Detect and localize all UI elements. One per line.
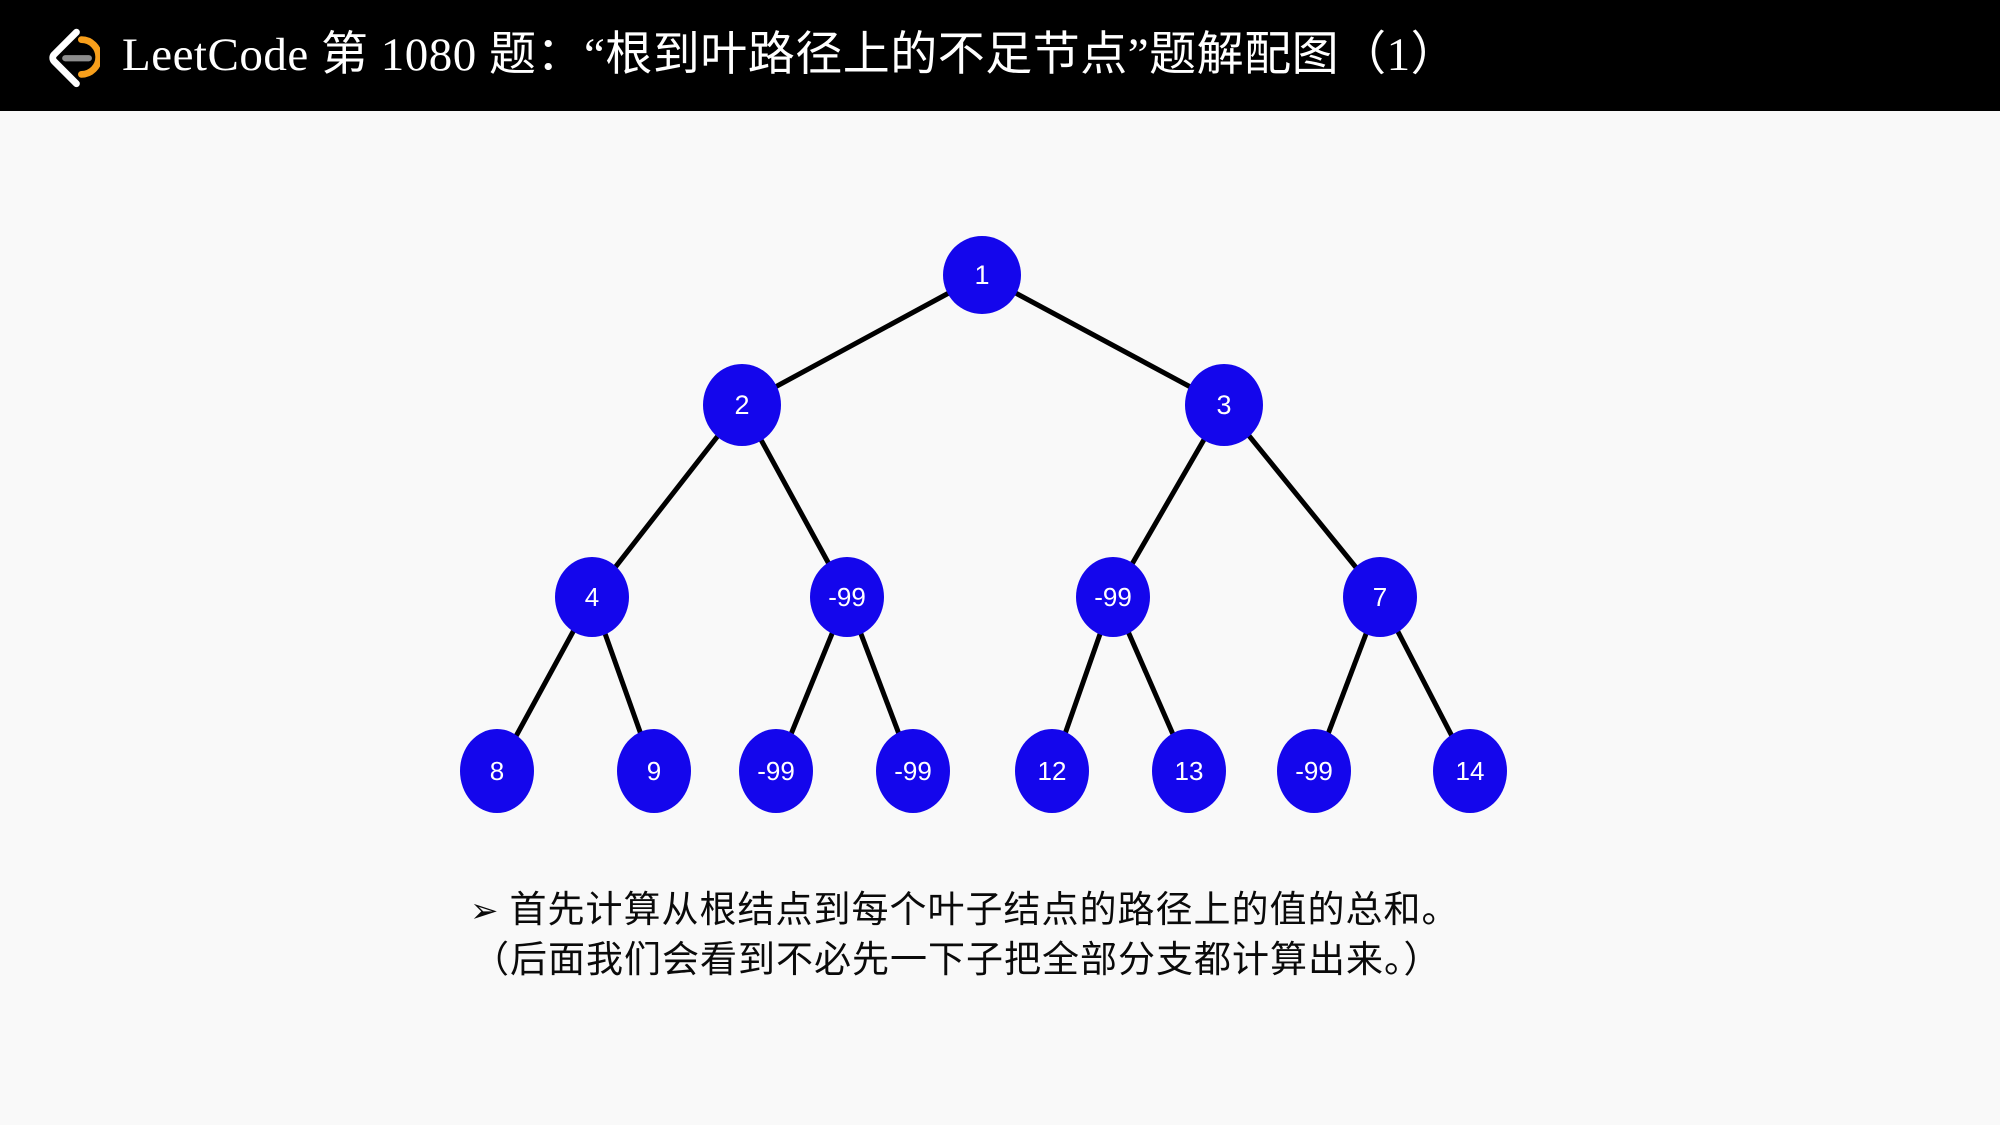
tree-node: -99 bbox=[1076, 557, 1150, 637]
leetcode-logo-icon bbox=[38, 26, 100, 88]
tree-node: 9 bbox=[617, 729, 691, 813]
tree-node: -99 bbox=[1277, 729, 1351, 813]
page-title: LeetCode 第 1080 题：“根到叶路径上的不足节点”题解配图（1） bbox=[122, 32, 1458, 79]
tree-node: 13 bbox=[1152, 729, 1226, 813]
tree-node: -99 bbox=[739, 729, 813, 813]
slide-header-bar: LeetCode 第 1080 题：“根到叶路径上的不足节点”题解配图（1） bbox=[0, 0, 2000, 111]
caption-block: ➢首先计算从根结点到每个叶子结点的路径上的值的总和。 （后面我们会看到不必先一下… bbox=[470, 886, 1570, 986]
tree-edge bbox=[982, 275, 1224, 405]
tree-node: 4 bbox=[555, 557, 629, 637]
tree-node: -99 bbox=[810, 557, 884, 637]
caption-line-1-text: 首先计算从根结点到每个叶子结点的路径上的值的总和。 bbox=[510, 890, 1460, 931]
tree-node: 7 bbox=[1343, 557, 1417, 637]
slide-canvas: LeetCode 第 1080 题：“根到叶路径上的不足节点”题解配图（1） 1… bbox=[0, 0, 2000, 1125]
tree-node: 14 bbox=[1433, 729, 1507, 813]
tree-node: 3 bbox=[1185, 364, 1263, 446]
tree-node: -99 bbox=[876, 729, 950, 813]
tree-edge bbox=[742, 275, 982, 405]
tree-node: 8 bbox=[460, 729, 534, 813]
caption-line-1: ➢首先计算从根结点到每个叶子结点的路径上的值的总和。 bbox=[470, 886, 1570, 936]
tree-node: 12 bbox=[1015, 729, 1089, 813]
tree-node: 2 bbox=[703, 364, 781, 446]
bullet-arrow-icon: ➢ bbox=[470, 889, 500, 935]
tree-node: 1 bbox=[943, 236, 1021, 314]
caption-line-2: （后面我们会看到不必先一下子把全部分支都计算出来。） bbox=[472, 936, 1570, 986]
